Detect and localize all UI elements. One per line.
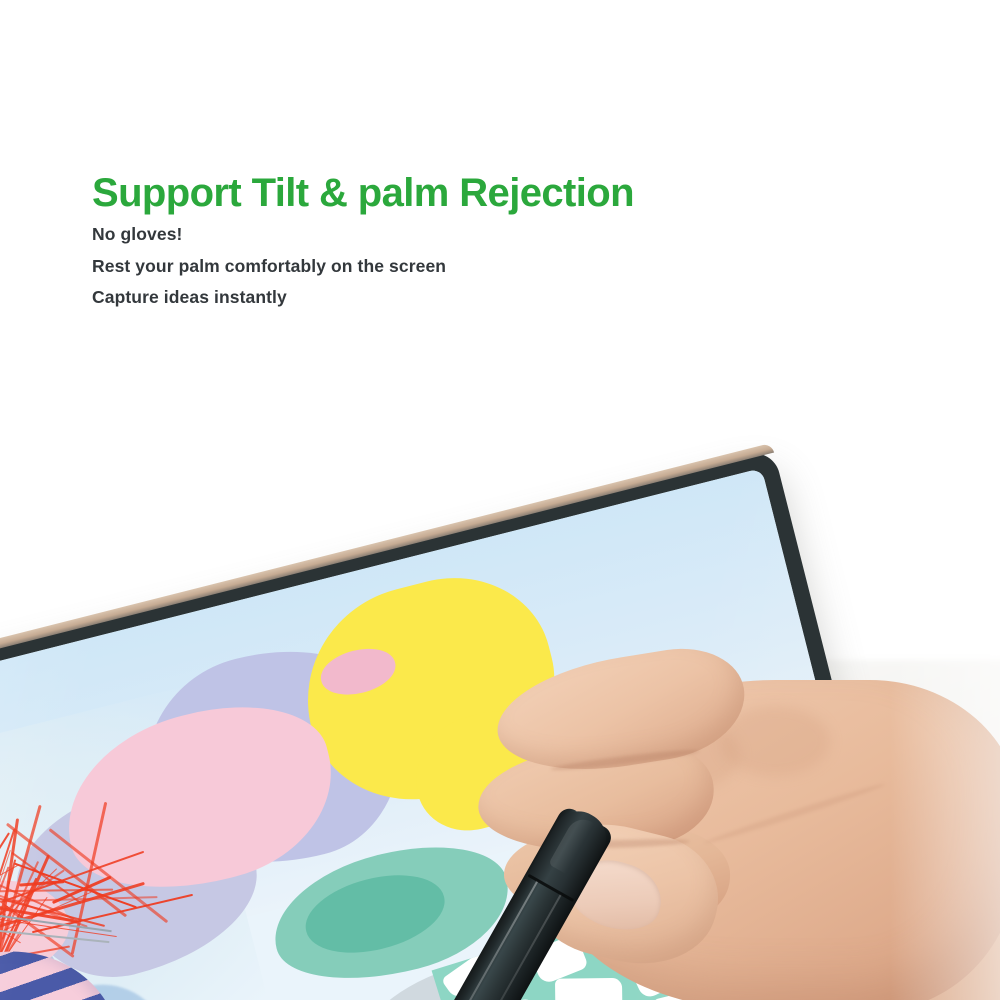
photo-fade-right — [890, 330, 1000, 1000]
photo-fade-top — [0, 330, 1000, 420]
page-title: Support Tilt & palm Rejection — [92, 172, 852, 214]
feature-line-2: Rest your palm comfortably on the screen — [92, 258, 852, 276]
product-feature-banner: Support Tilt & palm Rejection No gloves!… — [0, 0, 1000, 1000]
product-photo — [0, 330, 1000, 1000]
feature-line-3: Capture ideas instantly — [92, 289, 852, 307]
copy-block: Support Tilt & palm Rejection No gloves!… — [92, 172, 852, 307]
feature-line-1: No gloves! — [92, 226, 852, 244]
